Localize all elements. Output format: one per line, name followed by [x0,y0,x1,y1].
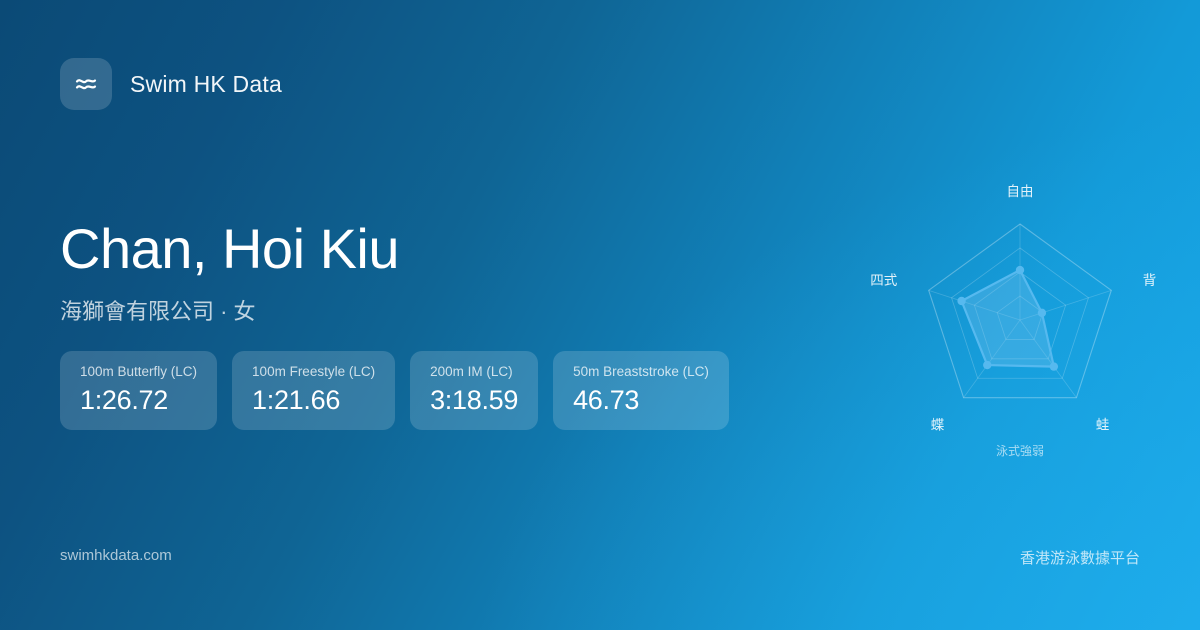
radar-chart: 自由背蛙蝶四式 泳式強弱 [870,165,1170,475]
athlete-meta: 海獅會有限公司 · 女 [60,294,399,326]
radar-axis-label-0: 自由 [1007,184,1034,199]
radar-caption: 泳式強弱 [996,444,1044,458]
brand-name: Swim HK Data [130,71,282,98]
radar-axis-label-4: 四式 [870,273,898,288]
share-card-root: Swim HK Data Chan, Hoi Kiu 海獅會有限公司 · 女 1… [0,0,1200,630]
radar-axis-label-2: 蛙 [1096,417,1110,432]
stat-label: 200m IM (LC) [430,363,518,381]
stat-card: 100m Freestyle (LC) 1:21.66 [232,351,395,430]
brand-lockup: Swim HK Data [60,58,282,110]
hero-block: Chan, Hoi Kiu 海獅會有限公司 · 女 [60,218,399,326]
page-title: Chan, Hoi Kiu [60,218,399,280]
stat-value: 1:26.72 [80,385,197,416]
footer-site-url: swimhkdata.com [60,547,172,564]
radar-series [962,270,1054,367]
radar-axis-label-3: 蝶 [931,417,945,432]
stat-card-list: 100m Butterfly (LC) 1:26.72 100m Freesty… [60,351,729,430]
stat-value: 3:18.59 [430,385,518,416]
stat-value: 1:21.66 [252,385,375,416]
stat-label: 100m Freestyle (LC) [252,363,375,381]
stat-card: 50m Breaststroke (LC) 46.73 [553,351,729,430]
radar-axis-label-1: 背 [1143,273,1157,288]
stat-card: 100m Butterfly (LC) 1:26.72 [60,351,217,430]
footer-tagline: 香港游泳數據平台 [1020,547,1140,568]
stat-label: 100m Butterfly (LC) [80,363,197,381]
stat-card: 200m IM (LC) 3:18.59 [410,351,538,430]
wave-approx-icon [60,58,112,110]
stat-label: 50m Breaststroke (LC) [573,363,709,381]
stat-value: 46.73 [573,385,709,416]
